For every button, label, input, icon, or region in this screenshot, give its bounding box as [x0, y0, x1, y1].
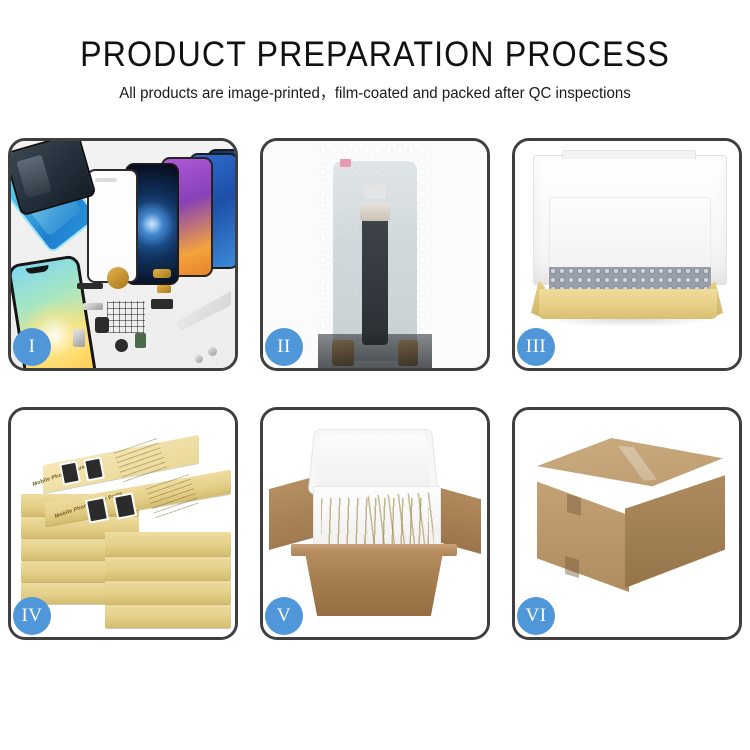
connector-pad-graphic — [107, 301, 145, 333]
pink-label-graphic — [340, 159, 351, 167]
carton-seal-upper — [567, 494, 581, 516]
stacked-box — [105, 604, 231, 628]
carton-seal-lower — [565, 556, 579, 578]
button-part-icon — [157, 285, 171, 293]
step-badge-5: V — [265, 597, 303, 635]
step-panel-6[interactable]: VI — [512, 407, 742, 640]
sensor-part-icon — [135, 333, 146, 348]
stacked-box — [105, 580, 231, 604]
lcd-chip-graphic — [364, 185, 386, 199]
bracket-part-icon — [83, 303, 103, 310]
steps-grid: I II — [8, 138, 742, 672]
carton-left-face-graphic — [537, 472, 629, 592]
screen-glass-graphic — [87, 169, 138, 283]
product-preparation-infographic: PRODUCT PREPARATION PROCESS All products… — [0, 0, 750, 750]
screw-part-2-icon — [195, 355, 203, 363]
page-subtitle: All products are image-printed，film-coat… — [11, 74, 739, 103]
box-front-graphic — [539, 289, 717, 319]
page-title: PRODUCT PREPARATION PROCESS — [30, 0, 720, 74]
tweezers-icon — [175, 291, 231, 331]
step-panel-2[interactable]: II — [260, 138, 490, 371]
speaker-part-icon — [107, 267, 129, 289]
carton-right-face-graphic — [625, 468, 725, 588]
step-badge-3: III — [517, 328, 555, 366]
header: PRODUCT PREPARATION PROCESS All products… — [0, 0, 750, 103]
step-panel-4[interactable]: Mobile Phone Spare Parts Mobile Phone Sp… — [8, 407, 238, 640]
sim-tray-part-icon — [73, 329, 85, 347]
stacked-box — [105, 532, 231, 556]
step-badge-4: IV — [13, 597, 51, 635]
stacked-box — [105, 556, 231, 580]
box-shadow — [543, 319, 715, 327]
step-badge-1: I — [13, 328, 51, 366]
lcd-flex-cable-graphic — [362, 217, 388, 345]
bag-bottom-shadow — [318, 334, 432, 368]
camera-part-icon — [153, 269, 171, 278]
screw-part-icon — [208, 347, 217, 356]
module-part-icon — [151, 299, 173, 309]
carton-front-graphic — [295, 550, 453, 616]
flex-cable-part-icon — [77, 283, 103, 289]
step-panel-5[interactable]: V — [260, 407, 490, 640]
foam-sheet-graphic — [549, 197, 711, 271]
vibrator-part-icon — [115, 339, 128, 352]
step-panel-3[interactable]: III — [512, 138, 742, 371]
foam-lid-graphic — [308, 429, 439, 495]
step-badge-6: VI — [517, 597, 555, 635]
step-panel-1[interactable]: I — [8, 138, 238, 371]
step-badge-2: II — [265, 328, 303, 366]
bubble-wrap-bag-graphic — [318, 145, 432, 368]
taptic-part-icon — [95, 317, 109, 333]
